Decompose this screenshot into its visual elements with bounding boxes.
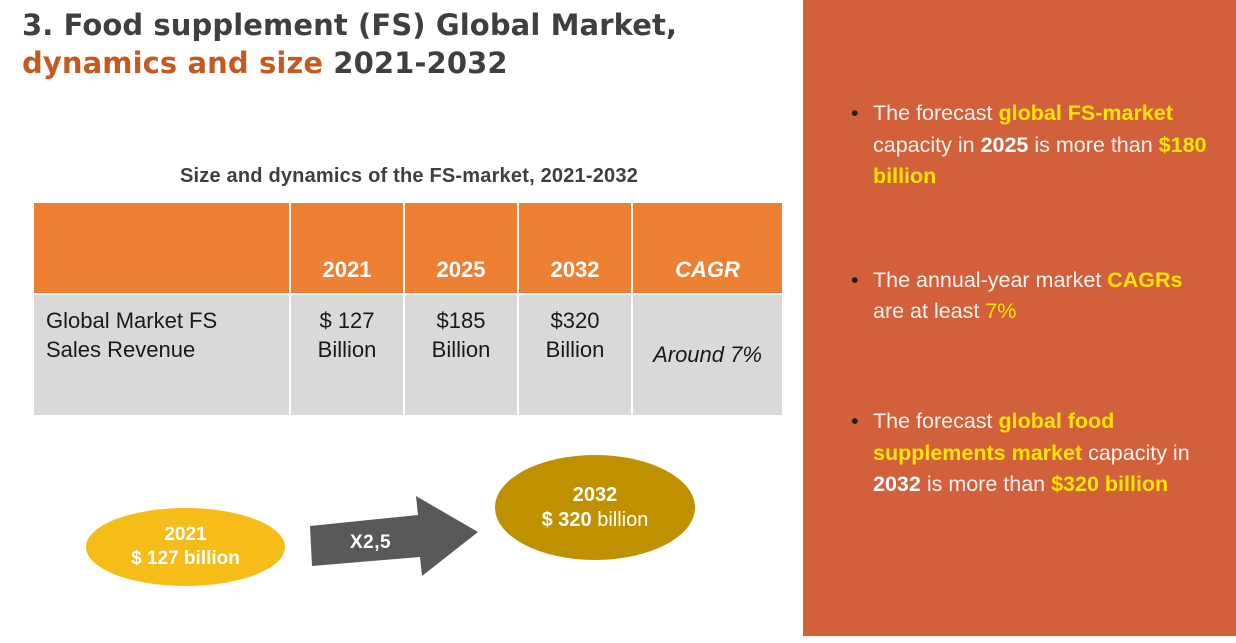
bubble-2032-value: $ 320 billion xyxy=(542,508,649,533)
bullet-3-highlight-2: $320 billion xyxy=(1051,472,1168,496)
bubble-2021-unit: billion xyxy=(179,548,240,569)
bullet-3-text-3: is more than xyxy=(921,472,1051,496)
page-title-accent: dynamics and size xyxy=(22,46,323,80)
page-title-line2: dynamics and size 2021-2032 xyxy=(22,44,782,82)
cell-2032-unit: Billion xyxy=(519,336,631,365)
table-cell-2025: $185 Billion xyxy=(405,293,519,415)
bubble-2021-amount: $ 127 xyxy=(131,548,179,569)
bullet-1-year: 2025 xyxy=(981,133,1029,157)
bubble-2032-year: 2032 xyxy=(573,483,618,508)
table-cell-cagr: Around 7% xyxy=(633,293,782,415)
bullet-1-highlight-1: global FS-market xyxy=(998,101,1172,125)
bullet-1-text-1: The forecast xyxy=(873,101,998,125)
bubble-2032-unit: billion xyxy=(592,509,649,531)
bullet-1-text-2: capacity in xyxy=(873,133,981,157)
arrow-right-icon xyxy=(306,488,486,583)
bullet-2-highlight-2: 7% xyxy=(985,299,1016,323)
arrow-multiplier-label: X2,5 xyxy=(350,532,391,554)
bubble-2021-year: 2021 xyxy=(164,523,206,547)
bullet-2-text-1: The annual-year market xyxy=(873,268,1107,292)
row-label-line2: Sales Revenue xyxy=(46,336,289,365)
cell-2025-amount: $185 xyxy=(405,307,517,336)
table-cell-2021: $ 127 Billion xyxy=(291,293,405,415)
table-header-blank xyxy=(34,203,291,293)
market-size-table: 2021 2025 2032 CAGR Global Market FS Sal… xyxy=(34,203,782,415)
growth-diagram: 2021 $ 127 billion X2,5 2032 $ 320 billi… xyxy=(0,440,800,620)
bullet-3-text-2: capacity in xyxy=(1082,441,1190,465)
table-cell-row-label: Global Market FS Sales Revenue xyxy=(34,293,291,415)
bullet-list: •The forecast global FS-market capacity … xyxy=(851,98,1211,501)
bullet-1-text-3: is more than xyxy=(1028,133,1158,157)
bubble-2032: 2032 $ 320 billion xyxy=(495,455,695,560)
bullet-2-highlight-1: CAGRs xyxy=(1107,268,1182,292)
growth-arrow: X2,5 xyxy=(306,488,486,583)
list-item: •The forecast global FS-market capacity … xyxy=(851,98,1211,193)
table-cell-2032: $320 Billion xyxy=(519,293,633,415)
bullet-marker-icon: • xyxy=(851,406,859,438)
table-header-2032: 2032 xyxy=(519,203,633,293)
bullet-3-text-1: The forecast xyxy=(873,409,998,433)
bubble-2032-amount: $ 320 xyxy=(542,509,592,531)
cell-2021-unit: Billion xyxy=(291,336,403,365)
bubble-2021: 2021 $ 127 billion xyxy=(86,508,285,586)
list-item: •The forecast global food supplements ma… xyxy=(851,406,1211,501)
table-header-2021: 2021 xyxy=(291,203,405,293)
page-title: 3. Food supplement (FS) Global Market, d… xyxy=(22,6,782,83)
key-takeaways-panel: •The forecast global FS-market capacity … xyxy=(803,0,1236,636)
cell-2032-amount: $320 xyxy=(519,307,631,336)
bubble-2021-value: $ 127 billion xyxy=(131,547,240,571)
cell-2025-unit: Billion xyxy=(405,336,517,365)
table-header-2025: 2025 xyxy=(405,203,519,293)
row-label-line1: Global Market FS xyxy=(46,307,289,336)
table-caption: Size and dynamics of the FS-market, 2021… xyxy=(34,165,784,188)
bullet-3-year: 2032 xyxy=(873,472,921,496)
table-header-cagr: CAGR xyxy=(633,203,782,293)
bullet-2-text-2: are at least xyxy=(873,299,985,323)
table-header-row: 2021 2025 2032 CAGR xyxy=(34,203,782,293)
page-title-line1: 3. Food supplement (FS) Global Market, xyxy=(22,6,782,44)
list-item: •The annual-year market CAGRs are at lea… xyxy=(851,265,1211,328)
page-title-years: 2021-2032 xyxy=(323,46,508,80)
bullet-marker-icon: • xyxy=(851,265,859,297)
bullet-marker-icon: • xyxy=(851,98,859,130)
table-row: Global Market FS Sales Revenue $ 127 Bil… xyxy=(34,293,782,415)
cell-2021-amount: $ 127 xyxy=(291,307,403,336)
